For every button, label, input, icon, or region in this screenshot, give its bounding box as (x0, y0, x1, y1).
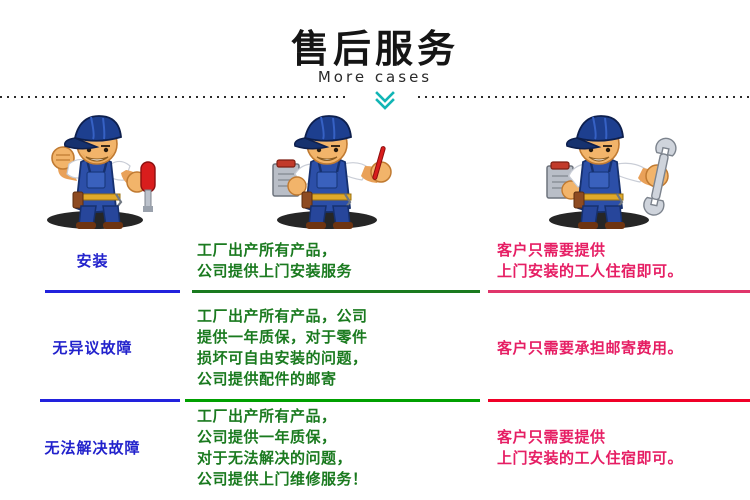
table-row: 客户只需要提供 上门安装的工人住宿即可。 (485, 400, 750, 496)
table-row: 安装 (0, 230, 185, 292)
table-row: 工厂出产所有产品， 公司提供一年质保， 对于无法解决的问题， 公司提供上门维修服… (185, 400, 485, 496)
row-divider-blue (45, 290, 180, 293)
illustration-worker-flexing-with-screwdriver (0, 102, 185, 232)
dotted-line-left (0, 96, 350, 98)
service-table: 安装 无异议故障 无法解决故障 (0, 100, 750, 500)
row-divider-pink (488, 290, 750, 293)
category-label: 无异议故障 (52, 337, 132, 359)
table-row: 工厂出产所有产品，公司 提供一年质保，对于零件 损坏可自由安装的问题， 公司提供… (185, 302, 485, 394)
row-divider-blue (40, 399, 180, 402)
row-divider-green (185, 399, 480, 402)
page-title: 售后服务 (0, 26, 750, 72)
row-divider-red (488, 399, 750, 402)
page-subtitle: More cases (0, 68, 750, 86)
illustration-worker-holding-wrench (485, 102, 750, 232)
after-sales-service-page: 售后服务 More cases (0, 0, 750, 500)
category-label: 安装 (76, 250, 108, 272)
table-row: 客户只需要提供 上门安装的工人住宿即可。 (485, 230, 750, 292)
table-row: 无法解决故障 (0, 400, 185, 496)
row-divider-green (192, 290, 480, 293)
customer-duty-text: 客户只需要提供 上门安装的工人住宿即可。 (497, 240, 683, 282)
factory-policy-text: 工厂出产所有产品， 公司提供一年质保， 对于无法解决的问题， 公司提供上门维修服… (197, 406, 368, 490)
table-row: 工厂出产所有产品， 公司提供上门安装服务 (185, 230, 485, 292)
page-header: 售后服务 More cases (0, 0, 750, 100)
table-row: 客户只需要承担邮寄费用。 (485, 302, 750, 394)
dotted-line-right (418, 96, 750, 98)
column-factory-policy: 工厂出产所有产品， 公司提供上门安装服务 工厂出产所有产品，公司 提供一年质保，… (185, 100, 485, 500)
customer-duty-text: 客户只需要承担邮寄费用。 (497, 338, 683, 359)
column-customer-duty: 客户只需要提供 上门安装的工人住宿即可。 客户只需要承担邮寄费用。 客户只需要提… (485, 100, 750, 500)
factory-policy-text: 工厂出产所有产品， 公司提供上门安装服务 (197, 240, 352, 282)
factory-policy-text: 工厂出产所有产品，公司 提供一年质保，对于零件 损坏可自由安装的问题， 公司提供… (197, 306, 368, 390)
category-label: 无法解决故障 (44, 437, 140, 459)
illustration-worker-pointing-with-clipboard (185, 102, 485, 232)
customer-duty-text: 客户只需要提供 上门安装的工人住宿即可。 (497, 427, 683, 469)
column-category: 安装 无异议故障 无法解决故障 (0, 100, 185, 500)
table-row: 无异议故障 (0, 302, 185, 394)
